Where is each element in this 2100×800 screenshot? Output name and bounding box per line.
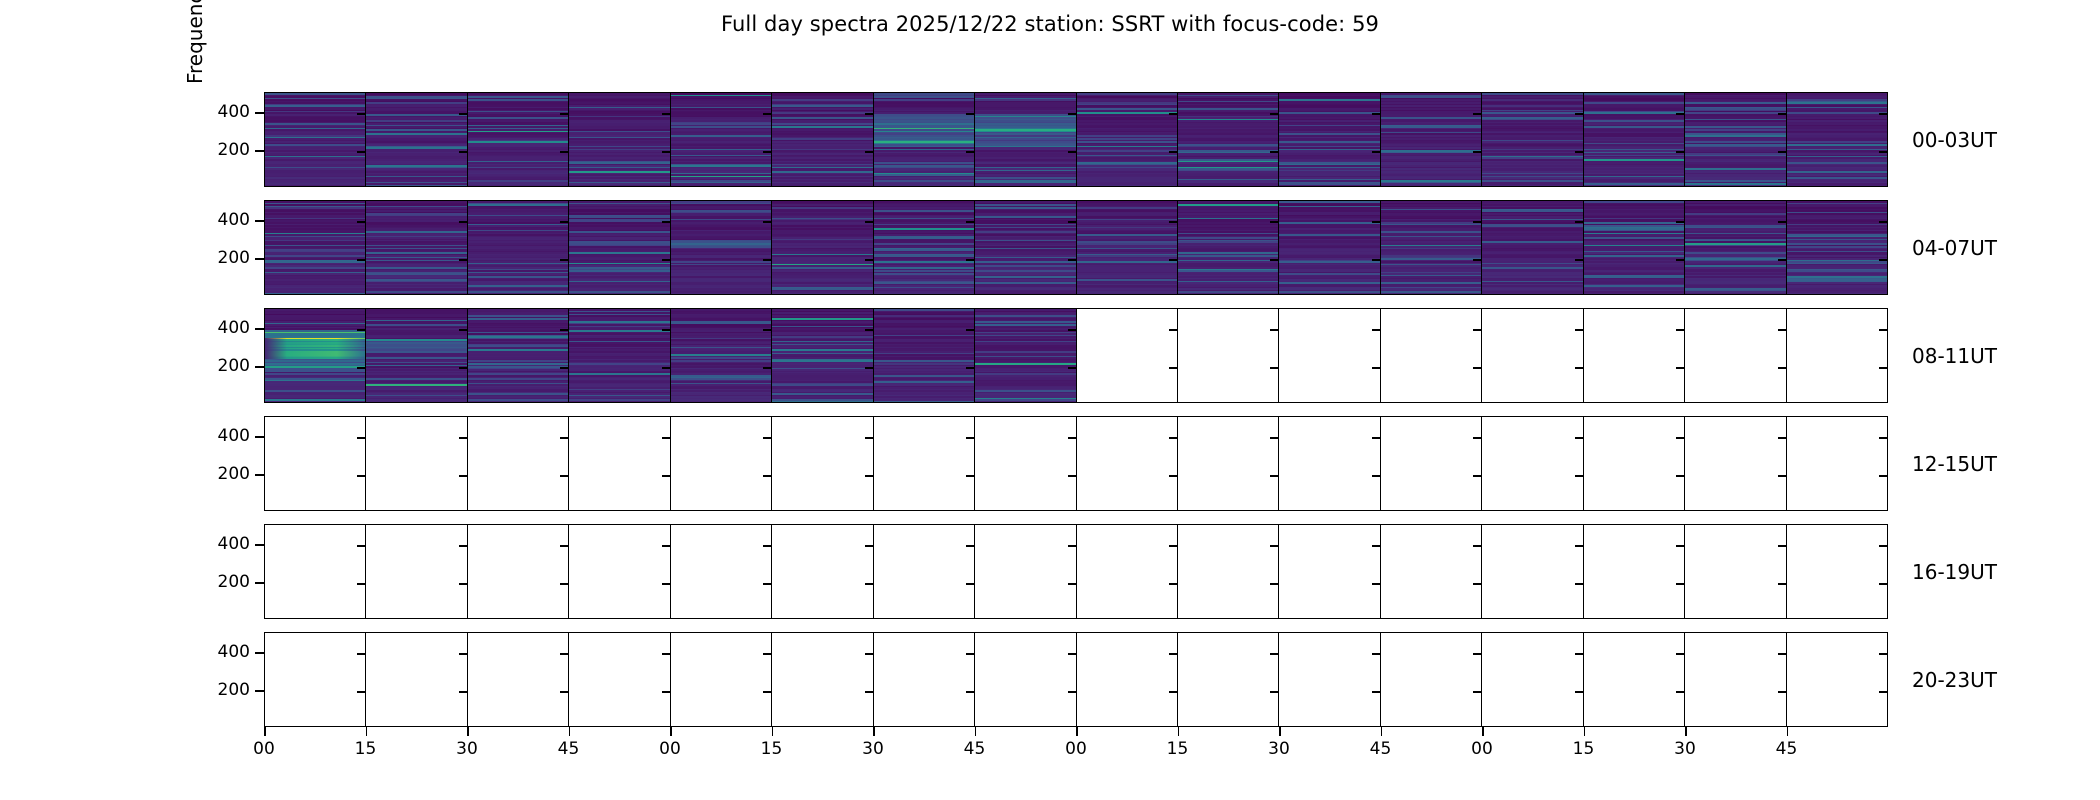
y-tick-inner — [459, 113, 467, 115]
y-tick-inner — [966, 437, 974, 439]
y-tick-inner — [1778, 259, 1786, 261]
spectrogram-panel[interactable] — [468, 309, 569, 402]
spectrogram-panel[interactable] — [468, 93, 569, 186]
y-tick-inner — [1068, 329, 1076, 331]
y-tick-inner — [1372, 653, 1380, 655]
y-tick-inner — [1169, 259, 1177, 261]
y-tick-inner — [1575, 691, 1583, 693]
spectrogram-image — [874, 201, 974, 294]
y-tick-inner — [763, 329, 771, 331]
y-tick-inner — [1270, 367, 1278, 369]
spectrogram-panel[interactable] — [366, 633, 467, 726]
spectrogram-image — [772, 201, 872, 294]
spectrogram-image — [975, 93, 1075, 186]
x-tick-mark — [670, 727, 672, 736]
y-tick-inner — [1169, 367, 1177, 369]
subplot-row-axes — [264, 200, 1888, 295]
y-tick-inner — [865, 221, 873, 223]
spectrogram-panel[interactable] — [874, 633, 975, 726]
y-tick-inner — [1473, 653, 1481, 655]
y-tick-inner — [1676, 151, 1684, 153]
y-tick-inner — [459, 259, 467, 261]
y-tick-mark — [255, 366, 264, 368]
y-tick-label: 200 — [218, 572, 250, 592]
spectrogram-image — [569, 93, 669, 186]
spectrogram-panel[interactable] — [1381, 93, 1482, 186]
spectrogram-panel[interactable] — [772, 417, 873, 510]
spectrogram-image — [366, 309, 466, 402]
y-tick-inner — [1676, 691, 1684, 693]
spectrogram-panel[interactable] — [1178, 417, 1279, 510]
y-tick-inner — [1372, 221, 1380, 223]
spectrogram-panel[interactable] — [1077, 201, 1178, 294]
y-tick-inner — [1169, 691, 1177, 693]
y-tick-inner — [763, 653, 771, 655]
y-tick-inner — [1676, 259, 1684, 261]
y-tick-inner — [1778, 545, 1786, 547]
spectrogram-panel[interactable] — [265, 417, 366, 510]
y-tick-inner — [1879, 475, 1887, 477]
y-tick-inner — [1270, 329, 1278, 331]
spectrogram-panel[interactable] — [366, 525, 467, 618]
spectrogram-panel[interactable] — [975, 525, 1076, 618]
spectrogram-panel[interactable] — [1584, 525, 1685, 618]
spectrogram-panel[interactable] — [671, 93, 772, 186]
spectrogram-panel[interactable] — [1077, 417, 1178, 510]
y-tick-inner — [1676, 475, 1684, 477]
spectrogram-panel[interactable] — [1685, 309, 1786, 402]
spectrogram-image — [1381, 201, 1481, 294]
spectrogram-panel[interactable] — [1584, 417, 1685, 510]
subplot-row-axes — [264, 524, 1888, 619]
x-tick-label: 15 — [761, 739, 783, 759]
spectrogram-panel[interactable] — [1178, 93, 1279, 186]
x-tick-mark — [1482, 727, 1484, 736]
spectrogram-image — [1279, 93, 1379, 186]
y-tick-inner — [865, 437, 873, 439]
y-tick-inner — [662, 653, 670, 655]
y-tick-inner — [763, 583, 771, 585]
spectrogram-panel[interactable] — [1178, 633, 1279, 726]
y-tick-inner — [662, 113, 670, 115]
y-tick-inner — [1473, 475, 1481, 477]
spectrogram-panel[interactable] — [1787, 633, 1887, 726]
spectrogram-panel[interactable] — [1178, 201, 1279, 294]
y-tick-inner — [1778, 151, 1786, 153]
spectrogram-panel[interactable] — [1584, 309, 1685, 402]
y-tick-inner — [459, 151, 467, 153]
spectrogram-panel[interactable] — [1482, 525, 1583, 618]
spectrogram-panel[interactable] — [874, 417, 975, 510]
spectrogram-panel[interactable] — [569, 633, 670, 726]
y-tick-inner — [357, 691, 365, 693]
y-tick-inner — [865, 151, 873, 153]
y-tick-inner — [865, 113, 873, 115]
spectrogram-panel[interactable] — [975, 417, 1076, 510]
spectrogram-panel[interactable] — [468, 417, 569, 510]
y-tick-inner — [1169, 329, 1177, 331]
y-tick-inner — [459, 329, 467, 331]
y-tick-mark — [255, 582, 264, 584]
y-tick-inner — [1575, 653, 1583, 655]
spectrogram-image — [468, 309, 568, 402]
y-tick-inner — [1372, 475, 1380, 477]
y-tick-inner — [560, 221, 568, 223]
subplot-row-axes — [264, 416, 1888, 511]
spectrogram-panel[interactable] — [1178, 309, 1279, 402]
y-tick-inner — [357, 259, 365, 261]
spectrogram-panel[interactable] — [569, 201, 670, 294]
y-tick-inner — [459, 367, 467, 369]
y-tick-inner — [1879, 221, 1887, 223]
spectrogram-panel[interactable] — [975, 201, 1076, 294]
y-tick-label: 400 — [218, 642, 250, 662]
spectrogram-panel[interactable] — [1279, 633, 1380, 726]
y-tick-inner — [1372, 151, 1380, 153]
y-tick-inner — [1676, 653, 1684, 655]
spectrogram-panel[interactable] — [1178, 525, 1279, 618]
y-tick-label: 200 — [218, 680, 250, 700]
y-tick-inner — [1270, 691, 1278, 693]
y-tick-inner — [357, 151, 365, 153]
y-tick-inner — [1068, 221, 1076, 223]
y-tick-inner — [1068, 437, 1076, 439]
spectrogram-panel[interactable] — [1787, 201, 1887, 294]
y-tick-inner — [1169, 151, 1177, 153]
subplot-row-04-07ut: 400200 — [264, 200, 1888, 295]
spectrogram-image — [975, 201, 1075, 294]
spectrogram-panel[interactable] — [1482, 633, 1583, 726]
spectrogram-image — [874, 93, 974, 186]
spectrogram-image — [468, 201, 568, 294]
spectrogram-panel[interactable] — [468, 525, 569, 618]
spectrogram-panel[interactable] — [265, 93, 366, 186]
y-tick-inner — [1879, 113, 1887, 115]
x-tick-mark — [1076, 727, 1078, 736]
spectrogram-panel[interactable] — [1482, 93, 1583, 186]
y-tick-inner — [1879, 151, 1887, 153]
y-tick-inner — [763, 545, 771, 547]
spectrogram-panel[interactable] — [772, 525, 873, 618]
spectrogram-panel[interactable] — [874, 201, 975, 294]
spectrogram-panel[interactable] — [874, 525, 975, 618]
spectrogram-panel[interactable] — [366, 309, 467, 402]
spectrogram-image — [265, 201, 365, 294]
spectrogram-panel[interactable] — [569, 309, 670, 402]
spectrogram-image — [366, 201, 466, 294]
y-tick-inner — [1676, 583, 1684, 585]
y-tick-inner — [763, 221, 771, 223]
spectrogram-panel[interactable] — [1584, 93, 1685, 186]
spectrogram-panel[interactable] — [265, 525, 366, 618]
y-tick-inner — [1169, 113, 1177, 115]
y-tick-inner — [1778, 653, 1786, 655]
y-tick-inner — [560, 653, 568, 655]
spectrogram-panel[interactable] — [265, 201, 366, 294]
y-tick-inner — [560, 691, 568, 693]
row-label-16-19ut: 16-19UT — [1912, 560, 1997, 584]
spectrogram-panel[interactable] — [874, 93, 975, 186]
spectrogram-panel[interactable] — [1381, 417, 1482, 510]
y-tick-inner — [1068, 691, 1076, 693]
y-tick-inner — [662, 367, 670, 369]
y-tick-inner — [560, 151, 568, 153]
y-tick-mark — [255, 150, 264, 152]
y-tick-inner — [1778, 475, 1786, 477]
spectrogram-panel[interactable] — [1685, 93, 1786, 186]
y-tick-inner — [1169, 437, 1177, 439]
spectrogram-panel[interactable] — [366, 417, 467, 510]
y-tick-inner — [1270, 545, 1278, 547]
y-axis-label: Frequency [MHz] — [183, 0, 207, 170]
y-tick-inner — [1169, 221, 1177, 223]
spectrogram-image — [671, 93, 771, 186]
y-tick-inner — [865, 545, 873, 547]
subplot-row-20-23ut: 400200 — [264, 632, 1888, 727]
spectrogram-panel[interactable] — [1077, 309, 1178, 402]
spectrogram-panel[interactable] — [671, 633, 772, 726]
y-tick-inner — [1575, 151, 1583, 153]
spectrogram-panel[interactable] — [1279, 309, 1380, 402]
y-tick-inner — [865, 329, 873, 331]
row-label-20-23ut: 20-23UT — [1912, 668, 1997, 692]
spectrogram-panel[interactable] — [1279, 93, 1380, 186]
y-tick-inner — [1372, 583, 1380, 585]
y-tick-label: 400 — [218, 210, 250, 230]
y-tick-inner — [1270, 151, 1278, 153]
spectrogram-image — [366, 93, 466, 186]
y-tick-inner — [1473, 583, 1481, 585]
y-tick-mark — [255, 474, 264, 476]
spectrogram-panel[interactable] — [874, 309, 975, 402]
x-tick-mark — [1279, 727, 1281, 736]
y-tick-inner — [1169, 583, 1177, 585]
y-tick-inner — [1169, 545, 1177, 547]
x-tick-mark — [1381, 727, 1383, 736]
spectrogram-image — [1381, 93, 1481, 186]
y-tick-inner — [459, 437, 467, 439]
x-tick-label: 30 — [456, 739, 478, 759]
spectrogram-panel[interactable] — [1584, 633, 1685, 726]
y-tick-inner — [1879, 583, 1887, 585]
y-tick-inner — [662, 437, 670, 439]
y-tick-inner — [763, 113, 771, 115]
spectrogram-panel[interactable] — [265, 309, 366, 402]
spectrogram-panel[interactable] — [1381, 201, 1482, 294]
y-tick-mark — [255, 652, 264, 654]
row-label-08-11ut: 08-11UT — [1912, 344, 1997, 368]
y-tick-inner — [1473, 259, 1481, 261]
y-tick-inner — [357, 221, 365, 223]
x-tick-label: 45 — [964, 739, 986, 759]
figure-canvas: Full day spectra 2025/12/22 station: SSR… — [0, 0, 2100, 800]
y-tick-inner — [1270, 583, 1278, 585]
subplot-row-12-15ut: 400200 — [264, 416, 1888, 511]
spectrogram-panel[interactable] — [1787, 93, 1887, 186]
spectrogram-panel[interactable] — [671, 309, 772, 402]
y-tick-label: 400 — [218, 318, 250, 338]
y-tick-inner — [1372, 691, 1380, 693]
spectrogram-image — [569, 201, 669, 294]
y-tick-inner — [1270, 221, 1278, 223]
spectrogram-panel[interactable] — [1584, 201, 1685, 294]
y-tick-inner — [1473, 545, 1481, 547]
y-tick-inner — [1575, 545, 1583, 547]
y-tick-inner — [1473, 329, 1481, 331]
spectrogram-image — [1482, 93, 1582, 186]
x-tick-mark — [1787, 727, 1789, 736]
spectrogram-panel[interactable] — [265, 633, 366, 726]
y-tick-inner — [560, 437, 568, 439]
x-tick-mark — [569, 727, 571, 736]
y-tick-inner — [1879, 653, 1887, 655]
spectrogram-panel[interactable] — [1279, 417, 1380, 510]
y-tick-inner — [1575, 329, 1583, 331]
y-tick-inner — [459, 691, 467, 693]
spectrogram-image — [569, 309, 669, 402]
spectrogram-panel[interactable] — [671, 417, 772, 510]
spectrogram-panel[interactable] — [1482, 201, 1583, 294]
y-tick-inner — [357, 329, 365, 331]
x-tick-label: 15 — [1167, 739, 1189, 759]
spectrogram-panel[interactable] — [772, 201, 873, 294]
y-tick-inner — [1473, 113, 1481, 115]
y-tick-inner — [763, 259, 771, 261]
spectrogram-panel[interactable] — [975, 93, 1076, 186]
y-tick-label: 200 — [218, 464, 250, 484]
y-tick-inner — [1372, 113, 1380, 115]
y-tick-inner — [1068, 475, 1076, 477]
spectrogram-image — [975, 309, 1075, 402]
spectrogram-panel[interactable] — [366, 201, 467, 294]
y-tick-inner — [966, 583, 974, 585]
row-label-00-03ut: 00-03UT — [1912, 128, 1997, 152]
y-tick-inner — [1068, 653, 1076, 655]
y-tick-inner — [560, 259, 568, 261]
y-tick-inner — [1068, 545, 1076, 547]
spectrogram-panel[interactable] — [772, 633, 873, 726]
y-tick-mark — [255, 328, 264, 330]
x-tick-mark — [873, 727, 875, 736]
y-tick-inner — [1473, 221, 1481, 223]
spectrogram-image — [265, 309, 365, 402]
spectrogram-image — [1685, 201, 1785, 294]
y-tick-inner — [1676, 329, 1684, 331]
y-tick-inner — [865, 259, 873, 261]
y-tick-inner — [459, 583, 467, 585]
x-tick-label: 45 — [558, 739, 580, 759]
spectrogram-panel[interactable] — [1685, 525, 1786, 618]
y-tick-inner — [966, 221, 974, 223]
y-tick-inner — [1068, 259, 1076, 261]
y-tick-mark — [255, 544, 264, 546]
spectrogram-image — [874, 309, 974, 402]
y-tick-inner — [1778, 329, 1786, 331]
y-tick-inner — [560, 367, 568, 369]
y-tick-inner — [662, 151, 670, 153]
spectrogram-panel[interactable] — [1787, 417, 1887, 510]
spectrogram-panel[interactable] — [1279, 201, 1380, 294]
spectrogram-panel[interactable] — [1381, 525, 1482, 618]
page-title: Full day spectra 2025/12/22 station: SSR… — [0, 10, 2100, 38]
spectrogram-panel[interactable] — [1077, 525, 1178, 618]
spectrogram-image — [1279, 201, 1379, 294]
y-tick-inner — [865, 653, 873, 655]
spectrogram-panel[interactable] — [975, 633, 1076, 726]
spectrogram-panel[interactable] — [1381, 309, 1482, 402]
x-tick-label: 45 — [1370, 739, 1392, 759]
spectrogram-panel[interactable] — [569, 525, 670, 618]
spectrogram-panel[interactable] — [468, 633, 569, 726]
spectrogram-panel[interactable] — [1077, 93, 1178, 186]
spectrogram-panel[interactable] — [1685, 417, 1786, 510]
x-tick-mark — [1685, 727, 1687, 736]
spectrogram-panel[interactable] — [1685, 201, 1786, 294]
spectrogram-panel[interactable] — [569, 93, 670, 186]
spectrogram-panel[interactable] — [569, 417, 670, 510]
y-tick-inner — [1068, 367, 1076, 369]
y-tick-inner — [1575, 583, 1583, 585]
spectrogram-panel[interactable] — [468, 201, 569, 294]
spectrogram-panel[interactable] — [1685, 633, 1786, 726]
spectrogram-panel[interactable] — [1482, 309, 1583, 402]
spectrogram-panel[interactable] — [1279, 525, 1380, 618]
spectrogram-panel[interactable] — [1787, 525, 1887, 618]
spectrogram-panel[interactable] — [772, 309, 873, 402]
spectrogram-panel[interactable] — [975, 309, 1076, 402]
x-tick-label: 30 — [1674, 739, 1696, 759]
y-tick-inner — [459, 221, 467, 223]
y-tick-inner — [1778, 221, 1786, 223]
y-tick-mark — [255, 690, 264, 692]
y-tick-inner — [1676, 221, 1684, 223]
y-tick-inner — [560, 545, 568, 547]
y-tick-mark — [255, 220, 264, 222]
y-tick-inner — [966, 475, 974, 477]
spectrogram-panel[interactable] — [1482, 417, 1583, 510]
spectrogram-panel[interactable] — [1381, 633, 1482, 726]
y-tick-inner — [966, 691, 974, 693]
y-tick-inner — [1676, 545, 1684, 547]
x-tick-label: 00 — [1065, 739, 1087, 759]
y-tick-inner — [966, 367, 974, 369]
y-tick-inner — [1879, 437, 1887, 439]
y-tick-inner — [459, 475, 467, 477]
spectrogram-panel[interactable] — [1077, 633, 1178, 726]
spectrogram-panel[interactable] — [1787, 309, 1887, 402]
spectrogram-panel[interactable] — [366, 93, 467, 186]
spectrogram-panel[interactable] — [671, 525, 772, 618]
y-tick-inner — [1676, 437, 1684, 439]
y-tick-inner — [763, 437, 771, 439]
spectrogram-panel[interactable] — [671, 201, 772, 294]
y-tick-inner — [1778, 113, 1786, 115]
y-tick-inner — [1068, 583, 1076, 585]
y-tick-inner — [966, 545, 974, 547]
spectrogram-panel[interactable] — [772, 93, 873, 186]
spectrogram-image — [1178, 201, 1278, 294]
spectrogram-image — [1077, 201, 1177, 294]
y-tick-inner — [560, 113, 568, 115]
spectrogram-image — [1178, 93, 1278, 186]
y-tick-inner — [357, 113, 365, 115]
y-tick-label: 400 — [218, 426, 250, 446]
y-tick-inner — [966, 151, 974, 153]
subplot-row-axes — [264, 308, 1888, 403]
x-tick-label: 00 — [1471, 739, 1493, 759]
y-tick-mark — [255, 112, 264, 114]
y-tick-inner — [357, 583, 365, 585]
